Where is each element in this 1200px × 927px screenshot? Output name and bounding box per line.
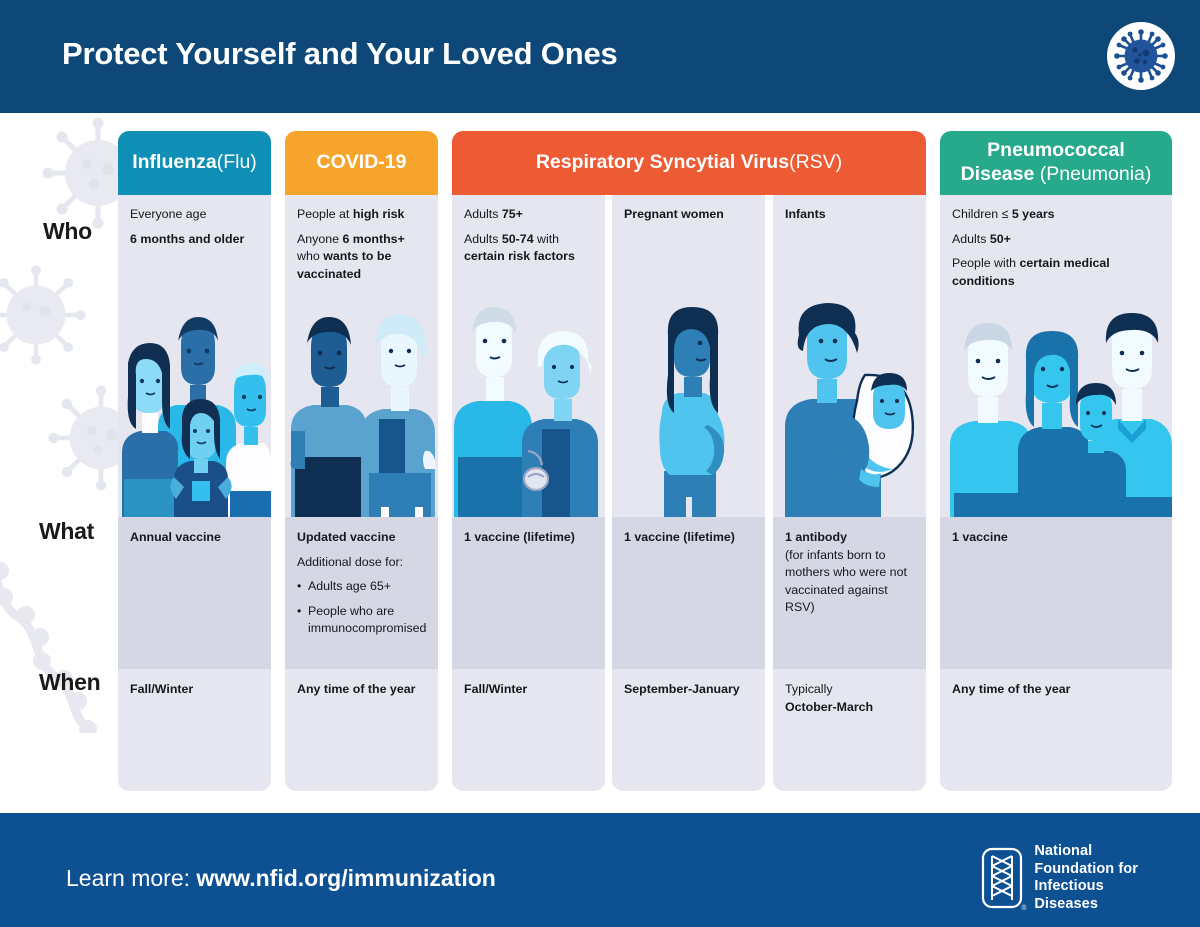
- row-label-when: When: [39, 669, 100, 696]
- cell-who: Children ≤ 5 years Adults 50+ People wit…: [940, 195, 1172, 301]
- when-text: Typically October-March: [773, 669, 926, 716]
- illustration-family-of-four: [118, 301, 271, 517]
- cell-who: Everyone age 6 months and older: [118, 195, 271, 301]
- illustration-adult-man-and-older-woman: [285, 301, 438, 517]
- cell-who: Adults 75+ Adults 50-74 with certain ris…: [452, 195, 605, 301]
- disease-name-light: (RSV): [789, 151, 842, 173]
- registered-trademark: ®: [1021, 905, 1026, 912]
- disease-header-rsv: Respiratory Syncytial Virus(RSV): [452, 131, 926, 195]
- disease-header-influenza: Influenza(Flu): [118, 131, 271, 195]
- who-text: Pregnant women: [612, 195, 765, 224]
- who-text: Everyone age 6 months and older: [118, 195, 271, 248]
- illustration-older-couple: [452, 301, 605, 517]
- cell-what: 1 vaccine (lifetime): [612, 517, 765, 669]
- cell-what: 1 vaccine: [940, 517, 1172, 669]
- page-footer: Learn more: www.nfid.org/immunization ® …: [0, 813, 1200, 927]
- when-text: Fall/Winter: [118, 669, 271, 699]
- disease-name-bold: Respiratory Syncytial Virus: [536, 151, 789, 173]
- illustration-multigenerational-family: [940, 301, 1172, 517]
- learn-more-text: Learn more: www.nfid.org/immunization: [66, 865, 496, 892]
- illustration-pregnant-woman: [612, 301, 765, 517]
- cell-when: September-January: [612, 669, 765, 791]
- who-text: Children ≤ 5 years Adults 50+ People wit…: [940, 195, 1172, 290]
- row-label-what: What: [39, 518, 94, 545]
- comparison-board: Who What When Influenza(Flu) Everyone ag…: [0, 113, 1200, 813]
- org-line: Infectious: [1034, 878, 1138, 896]
- cell-what: 1 vaccine (lifetime): [452, 517, 605, 669]
- cell-when: Typically October-March: [773, 669, 926, 791]
- cell-who: People at high risk Anyone 6 months+ who…: [285, 195, 438, 301]
- who-text: Infants: [773, 195, 926, 224]
- who-text: People at high risk Anyone 6 months+ who…: [285, 195, 438, 283]
- cell-what: 1 antibody (for infants born to mothers …: [773, 517, 926, 669]
- cell-what: Updated vaccine Additional dose for: Adu…: [285, 517, 438, 669]
- cell-when: Any time of the year: [285, 669, 438, 791]
- org-line: Foundation for: [1034, 861, 1138, 879]
- cell-who: Pregnant women: [612, 195, 765, 301]
- who-text: Adults 75+ Adults 50-74 with certain ris…: [452, 195, 605, 266]
- cell-when: Any time of the year: [940, 669, 1172, 791]
- disease-name-bold: Influenza: [132, 151, 217, 173]
- what-text: 1 vaccine (lifetime): [452, 517, 605, 547]
- what-text: 1 vaccine: [940, 517, 1172, 547]
- when-text: Any time of the year: [285, 669, 438, 699]
- learn-more-label: Learn more:: [66, 865, 196, 891]
- disease-header-covid-19: COVID-19: [285, 131, 438, 195]
- nfid-org-name: National Foundation for Infectious Disea…: [1034, 843, 1138, 914]
- nfid-dna-logo-mark: [981, 847, 1023, 909]
- disease-name-light: (Pneumonia): [1040, 163, 1152, 185]
- page-title: Protect Yourself and Your Loved Ones: [62, 36, 618, 72]
- decorative-molecule-shape: [0, 543, 104, 733]
- what-text: 1 antibody (for infants born to mothers …: [773, 517, 926, 617]
- decorative-virus-shape: [0, 265, 86, 365]
- cell-who: Infants: [773, 195, 926, 301]
- coronavirus-icon: [1107, 22, 1175, 90]
- disease-header-pneumococcal: Pneumococcal Disease (Pneumonia): [940, 131, 1172, 195]
- when-text: Fall/Winter: [452, 669, 605, 699]
- row-label-who: Who: [43, 218, 92, 245]
- nfid-logo: ® National Foundation for Infectious Dis…: [981, 843, 1138, 914]
- page-header: Protect Yourself and Your Loved Ones: [0, 0, 1200, 113]
- nfid-url-link[interactable]: www.nfid.org/immunization: [196, 865, 495, 891]
- org-line: National: [1034, 843, 1138, 861]
- when-text: September-January: [612, 669, 765, 699]
- disease-name-light: (Flu): [217, 151, 257, 173]
- cell-when: Fall/Winter: [452, 669, 605, 791]
- what-text: Annual vaccine: [118, 517, 271, 547]
- cell-what: Annual vaccine: [118, 517, 271, 669]
- illustration-mother-holding-infant: [773, 301, 926, 517]
- what-text: Updated vaccine Additional dose for: Adu…: [285, 517, 438, 638]
- when-text: Any time of the year: [940, 669, 1172, 699]
- what-text: 1 vaccine (lifetime): [612, 517, 765, 547]
- disease-name-bold: COVID-19: [317, 151, 407, 173]
- cell-when: Fall/Winter: [118, 669, 271, 791]
- org-line: Diseases: [1034, 896, 1138, 914]
